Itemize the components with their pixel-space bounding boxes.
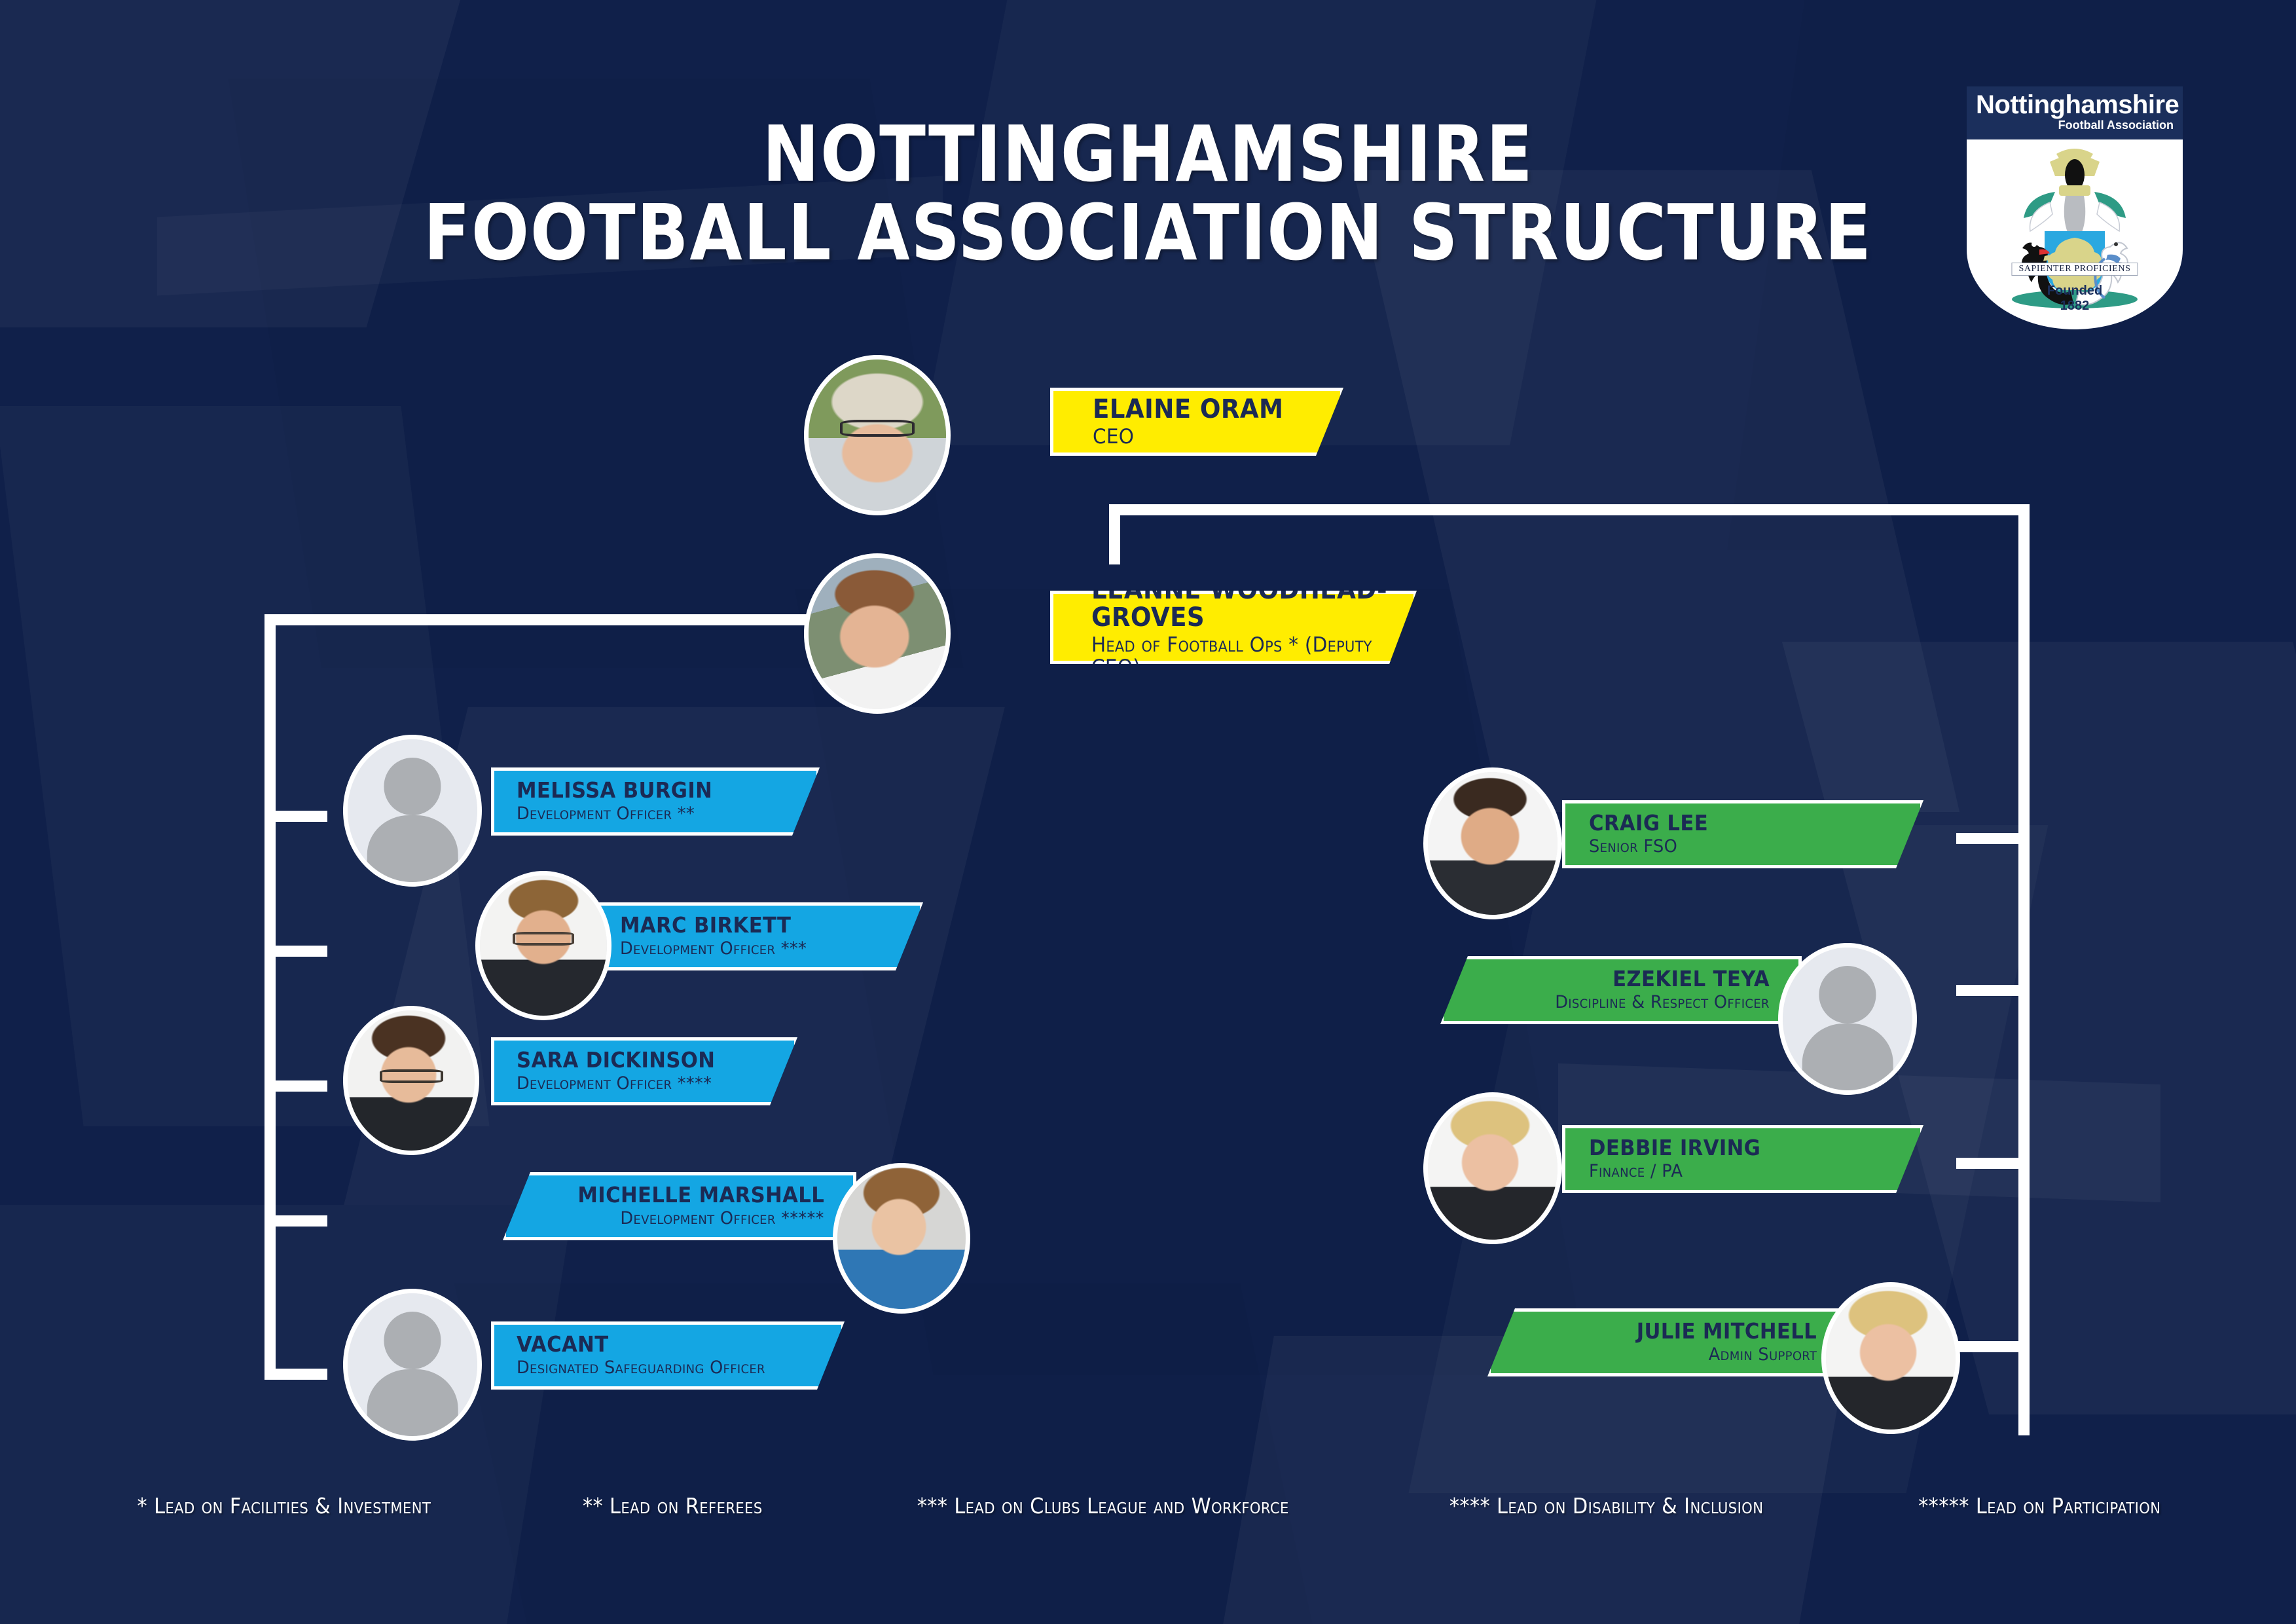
avatar-craig-lee — [1423, 767, 1562, 919]
banner-melissa-burgin[interactable]: MELISSA BURGIN Development Officer ** — [491, 767, 820, 836]
connector-stub-craig — [1956, 833, 2030, 844]
connector-left-spine — [264, 614, 276, 1379]
poster-title: NOTTINGHAMSHIRE FOOTBALL ASSOCIATION STR… — [137, 115, 2158, 272]
card-debbie-irving[interactable]: DEBBIE IRVING Finance / PA — [1562, 1125, 1923, 1193]
avatar-leanne-woodhead-groves — [804, 553, 951, 714]
person-name: VACANT — [517, 1333, 818, 1356]
card-elaine-oram[interactable]: ELAINE ORAM CEO — [951, 388, 1343, 456]
connector-stub-ezekiel — [1956, 985, 2030, 996]
org-chart-poster: NOTTINGHAMSHIRE FOOTBALL ASSOCIATION STR… — [0, 0, 2296, 1624]
banner-julie-mitchell[interactable]: JULIE MITCHELL Admin Support — [1487, 1308, 1849, 1376]
connector-stub-melissa — [264, 811, 327, 822]
person-role: Senior FSO — [1589, 837, 1904, 857]
card-marc-birkett[interactable]: MARC BIRKETT Development Officer *** — [594, 902, 923, 970]
avatar-sara-dickinson — [343, 1006, 479, 1155]
banner-michelle-marshall[interactable]: MICHELLE MARSHALL Development Officer **… — [503, 1172, 856, 1240]
founded-year: 1882 — [2060, 299, 2090, 313]
person-role: Discipline & Respect Officer — [1555, 993, 1770, 1012]
footnote-4: **** Lead on Disability & Inclusion — [1449, 1493, 1764, 1519]
card-melissa-burgin[interactable]: MELISSA BURGIN Development Officer ** — [491, 767, 820, 836]
person-role: Admin Support — [1709, 1345, 1817, 1365]
placeholder-person-icon — [348, 739, 477, 882]
crest-founded: Founded 1882 — [1967, 284, 2183, 314]
avatar-marc-birkett — [475, 871, 611, 1020]
footnote-5: ***** Lead on Participation — [1919, 1493, 2161, 1519]
placeholder-person-icon — [1783, 948, 1912, 1090]
footnote-2: ** Lead on Referees — [582, 1493, 762, 1519]
banner-vacant[interactable]: VACANT Designated Safeguarding Officer — [491, 1321, 845, 1390]
avatar-julie-mitchell — [1821, 1282, 1960, 1434]
logo-wordmark: Nottinghamshire Football Association — [1967, 86, 2183, 139]
person-role: Development Officer ** — [517, 804, 801, 824]
footnotes: * Lead on Facilities & Investment ** Lea… — [0, 1493, 2296, 1519]
avatar-debbie-irving — [1423, 1092, 1562, 1244]
person-name: DEBBIE IRVING — [1589, 1137, 1897, 1160]
banner-debbie-irving[interactable]: DEBBIE IRVING Finance / PA — [1562, 1125, 1923, 1193]
person-role: Finance / PA — [1589, 1162, 1904, 1181]
avatar-vacant — [343, 1289, 482, 1441]
person-name: JULIE MITCHELL — [1637, 1320, 1817, 1343]
person-name: ELAINE ORAM — [1093, 396, 1323, 423]
avatar-ezekiel-teya — [1778, 943, 1917, 1095]
person-name: MICHELLE MARSHALL — [577, 1184, 824, 1207]
person-role: Development Officer *** — [620, 939, 905, 959]
person-role: Development Officer ***** — [621, 1209, 824, 1228]
connector-stub-marc — [264, 946, 327, 957]
founded-label: Founded — [2047, 284, 2102, 298]
footnote-3: *** Lead on Clubs League and Workforce — [917, 1493, 1289, 1519]
connector-top-spine — [1109, 504, 2030, 515]
person-name: MELISSA BURGIN — [517, 779, 795, 802]
title-line-2: FOOTBALL ASSOCIATION STRUCTURE — [137, 193, 2158, 272]
card-leanne-woodhead-groves[interactable]: LEANNE WOODHEAD-GROVES Head of Football … — [951, 591, 1417, 664]
card-julie-mitchell[interactable]: JULIE MITCHELL Admin Support — [1487, 1308, 1849, 1376]
person-name: EZEKIEL TEYA — [1613, 968, 1770, 991]
banner-elaine-oram[interactable]: ELAINE ORAM CEO — [1050, 388, 1343, 456]
banner-marc-birkett[interactable]: MARC BIRKETT Development Officer *** — [594, 902, 923, 970]
banner-sara-dickinson[interactable]: SARA DICKINSON Development Officer **** — [491, 1037, 797, 1105]
connector-stub-michelle — [264, 1215, 327, 1227]
avatar-melissa-burgin — [343, 735, 482, 887]
avatar-michelle-marshall — [833, 1163, 970, 1314]
card-michelle-marshall[interactable]: MICHELLE MARSHALL Development Officer **… — [503, 1172, 856, 1240]
banner-ezekiel-teya[interactable]: EZEKIEL TEYA Discipline & Respect Office… — [1440, 956, 1802, 1024]
logo-name: Nottinghamshire — [1976, 92, 2174, 118]
connector-left-spine-top — [264, 614, 808, 625]
person-name: MARC BIRKETT — [620, 914, 899, 937]
crest-icon: SAPIENTER PROFICIENS Founded 1882 — [1967, 139, 2183, 329]
person-name: CRAIG LEE — [1589, 812, 1897, 835]
person-name: SARA DICKINSON — [517, 1049, 774, 1072]
connector-stub-vacant — [264, 1369, 327, 1380]
card-vacant[interactable]: VACANT Designated Safeguarding Officer — [491, 1321, 845, 1390]
logo-subtitle: Football Association — [1976, 118, 2174, 133]
title-line-1: NOTTINGHAMSHIRE — [137, 115, 2158, 193]
person-role: Development Officer **** — [517, 1074, 780, 1094]
placeholder-person-icon — [348, 1293, 477, 1436]
connector-stub-julie — [1956, 1341, 2030, 1352]
card-ezekiel-teya[interactable]: EZEKIEL TEYA Discipline & Respect Office… — [1440, 956, 1802, 1024]
card-craig-lee[interactable]: CRAIG LEE Senior FSO — [1562, 800, 1923, 868]
footnote-1: * Lead on Facilities & Investment — [137, 1493, 431, 1519]
connector-stub-sara — [264, 1080, 327, 1092]
banner-leanne-woodhead-groves[interactable]: LEANNE WOODHEAD-GROVES Head of Football … — [1050, 591, 1417, 664]
card-sara-dickinson[interactable]: SARA DICKINSON Development Officer **** — [491, 1037, 797, 1105]
crest-motto: SAPIENTER PROFICIENS — [2011, 263, 2138, 276]
person-role: Designated Safeguarding Officer — [517, 1358, 825, 1378]
connector-right-spine — [2018, 504, 2030, 1435]
avatar-elaine-oram — [804, 355, 951, 515]
connector-stub-debbie — [1956, 1158, 2030, 1169]
banner-craig-lee[interactable]: CRAIG LEE Senior FSO — [1562, 800, 1923, 868]
nottinghamshire-fa-logo: Nottinghamshire Football Association — [1967, 86, 2183, 329]
person-role: CEO — [1093, 426, 1328, 448]
